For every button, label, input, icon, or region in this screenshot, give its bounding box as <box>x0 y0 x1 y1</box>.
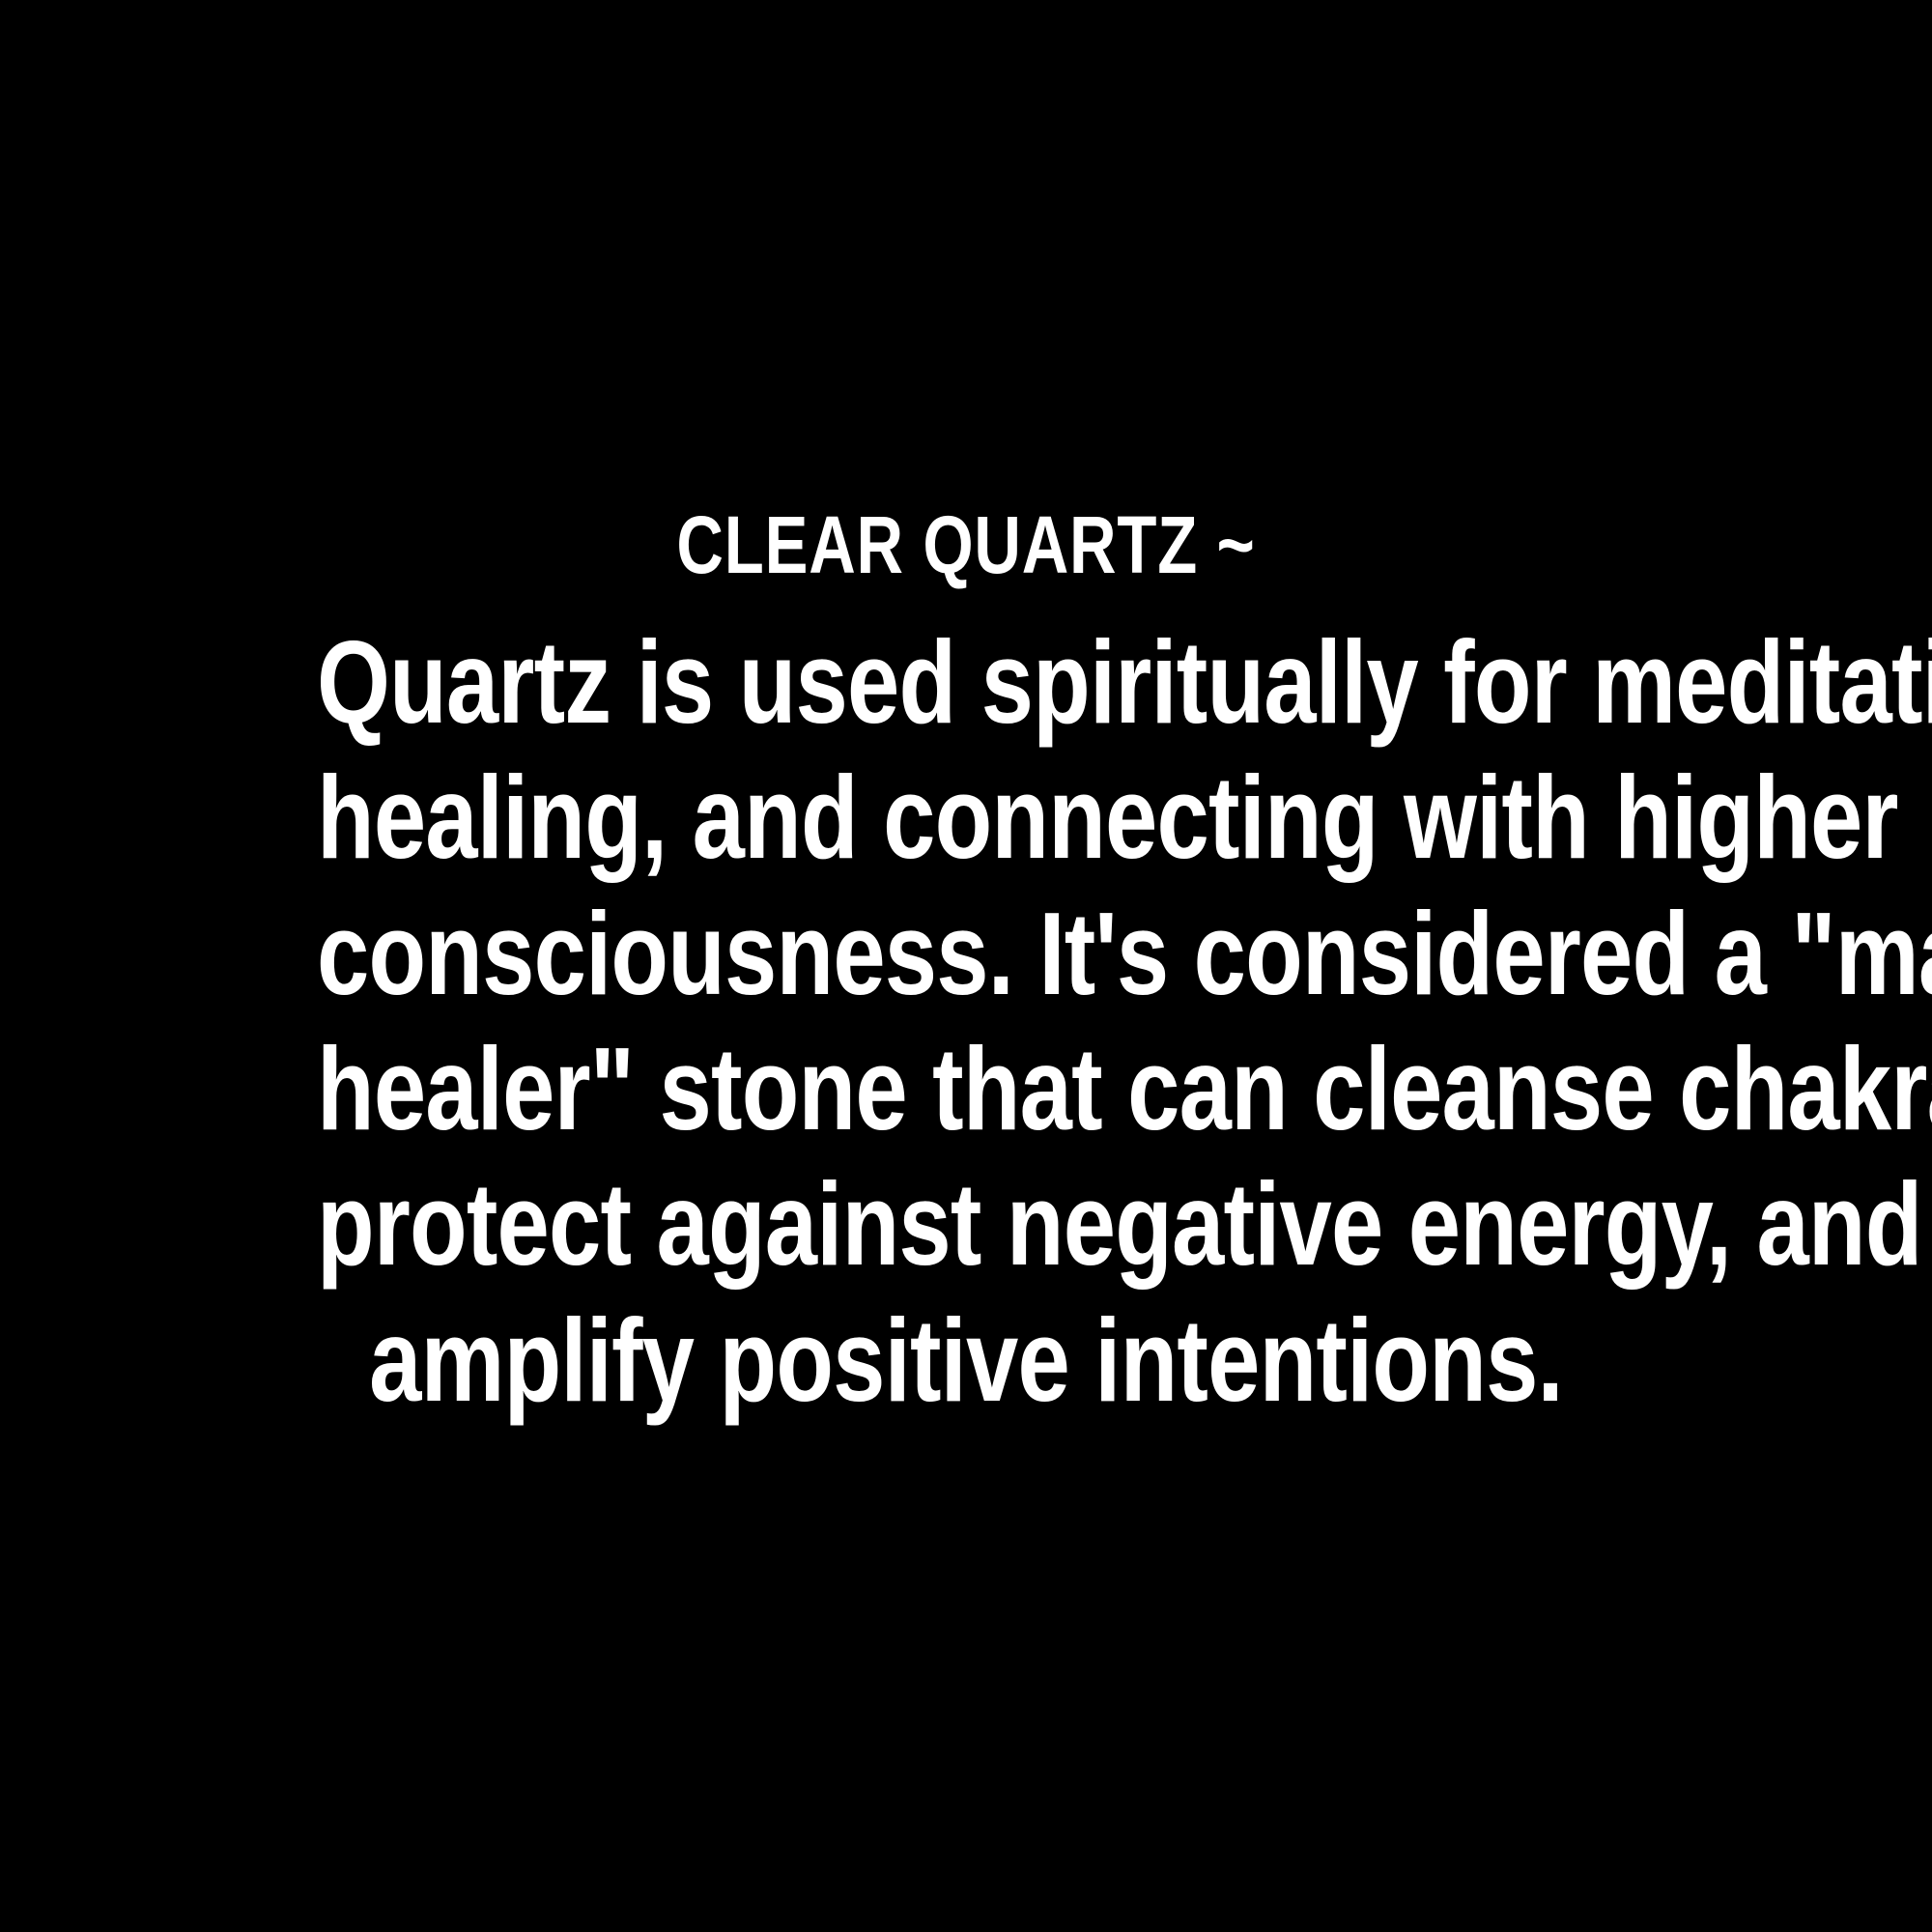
headline: CLEAR QUARTZ ~ <box>317 504 1615 585</box>
text-block: CLEAR QUARTZ ~ Quartz is used spirituall… <box>155 504 1777 1428</box>
body-line-5: protect against negative energy, and <box>317 1156 1615 1292</box>
body-line-2: healing, and connecting with higher <box>317 750 1615 885</box>
body-line-6: amplify positive intentions. <box>317 1293 1615 1428</box>
body-line-3: consciousness. It's considered a "master <box>317 886 1615 1021</box>
body-line-1: Quartz is used spiritually for meditatio… <box>317 614 1615 750</box>
text-card: CLEAR QUARTZ ~ Quartz is used spirituall… <box>0 0 1932 1932</box>
body-line-4: healer" stone that can cleanse chakras, <box>317 1021 1615 1156</box>
